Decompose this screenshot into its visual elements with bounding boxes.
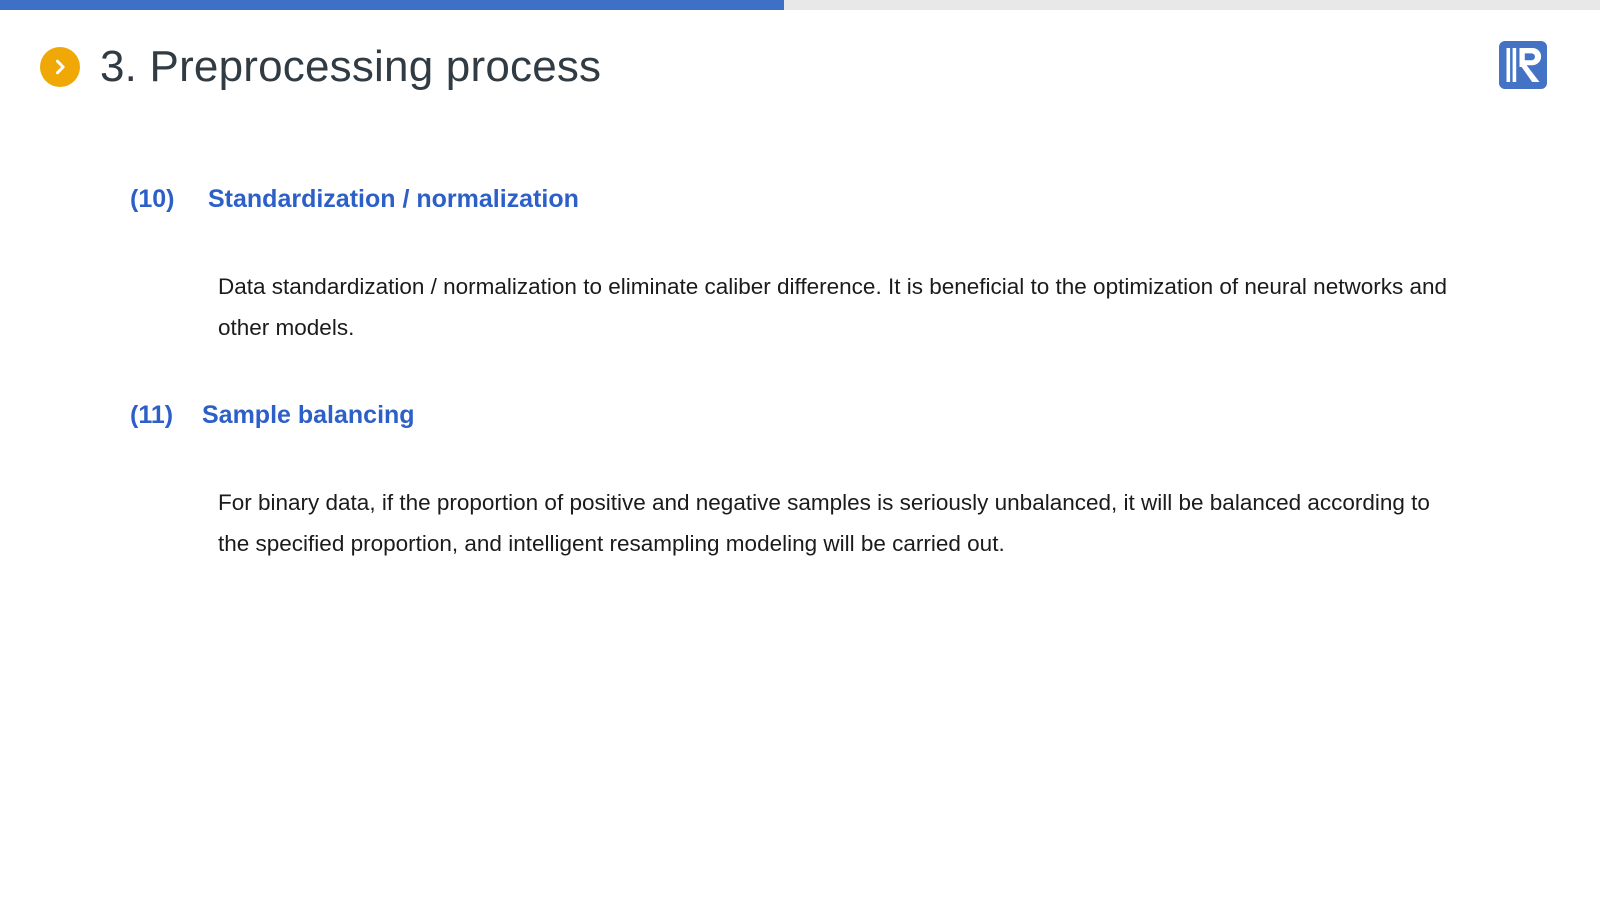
- page-title: 3. Preprocessing process: [100, 32, 601, 102]
- brand-r-logo-icon: [1498, 40, 1548, 90]
- section-heading: (10) Standardization / normalization: [130, 185, 1600, 214]
- section-label: Standardization / normalization: [208, 185, 579, 214]
- section-label: Sample balancing: [202, 401, 415, 430]
- progress-bar-fill: [0, 0, 784, 10]
- section-standardization: (10) Standardization / normalization Dat…: [0, 185, 1600, 348]
- section-heading: (11) Sample balancing: [130, 401, 1600, 430]
- section-number: (10): [130, 185, 208, 214]
- progress-bar-track: [0, 0, 1600, 10]
- section-sample-balancing: (11) Sample balancing For binary data, i…: [0, 401, 1600, 564]
- section-number: (11): [130, 401, 202, 430]
- section-body-text: Data standardization / normalization to …: [218, 266, 1458, 348]
- section-body-text: For binary data, if the proportion of po…: [218, 482, 1458, 564]
- slide-header: 3. Preprocessing process: [0, 32, 1600, 102]
- chevron-right-icon: [40, 47, 80, 87]
